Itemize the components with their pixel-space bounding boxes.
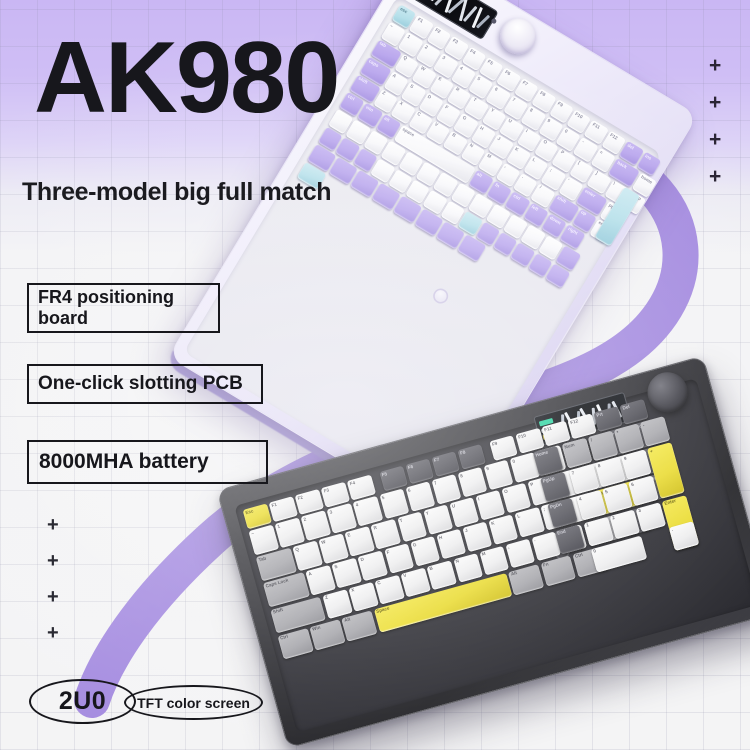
keycap-label: . xyxy=(531,537,536,544)
keycap-label: 5 xyxy=(379,494,385,501)
page-title: AK980 xyxy=(34,30,338,128)
feature-box-fr4-positioning-board: FR4 positioning board xyxy=(27,283,220,333)
keycap-label: M xyxy=(479,550,486,558)
plus-icon-left-1: + xyxy=(47,551,59,571)
keycap-label: 3 xyxy=(439,53,446,61)
keycap-label: B xyxy=(427,565,434,572)
keycap-label: 2 xyxy=(301,516,307,523)
keycap-label: ~ xyxy=(249,530,255,537)
keycap-label: F xyxy=(442,103,449,111)
keycap-label: O xyxy=(501,488,508,495)
keycap-label: 1 xyxy=(275,523,281,530)
keycap-label: F1 xyxy=(269,501,278,509)
keycap-label: W xyxy=(319,538,327,546)
keycap-label: 6 xyxy=(405,487,411,494)
keycap-label: 5 xyxy=(602,488,608,495)
keycap-label: Y xyxy=(423,510,430,517)
keycap-label: 0 xyxy=(591,548,597,555)
keycap-label: Esc xyxy=(243,507,254,516)
keycap-label: ; xyxy=(541,506,546,513)
keycap-label: F11 xyxy=(541,425,552,434)
keycap-label: F10 xyxy=(515,432,526,441)
keycap-label: Q xyxy=(293,546,300,553)
keycap-label: A xyxy=(306,570,313,577)
keycap-label: U xyxy=(449,503,456,510)
keycap-label: * xyxy=(614,429,619,436)
plus-icon-right-3: + xyxy=(709,166,721,187)
keycap-label: . xyxy=(669,526,674,533)
keycap-label: Fn xyxy=(540,561,549,569)
keycap-label: / xyxy=(588,436,593,443)
keycap-label: + xyxy=(647,448,653,455)
keycap-label: I xyxy=(475,496,480,503)
keycap-label: 9 xyxy=(484,465,490,472)
feature-box-one-click-slotting-pcb: One-click slotting PCB xyxy=(27,364,263,404)
keycap-label: S xyxy=(332,563,339,570)
keycap-label: F8 xyxy=(457,449,466,457)
keycap-label: F6 xyxy=(405,463,414,471)
page-subtitle: Three-model big full match xyxy=(22,178,331,207)
keycap-label: N xyxy=(453,558,460,565)
keycap-label: , xyxy=(505,544,510,551)
keycap-label: G xyxy=(410,541,417,548)
keycap-label: F2 xyxy=(295,494,304,502)
keycap-label: L xyxy=(530,155,537,163)
keycap-label: F9 xyxy=(489,440,498,448)
keycap-label: H xyxy=(477,124,485,132)
badge-tft-color-screen: TFT color screen xyxy=(124,685,263,720)
plus-icon-left-2: + xyxy=(47,587,59,607)
keycap-label: Alt xyxy=(508,570,517,578)
keycap-label: 6 xyxy=(628,481,634,488)
keycap-label: C xyxy=(375,579,382,586)
product-banner: escF1F2F3F4F5F6F7F8F9F10F11F12delins~123… xyxy=(0,0,750,750)
plus-icon-right-0: + xyxy=(709,55,721,76)
keycap-label: 1 xyxy=(405,32,412,40)
keycap-label: 0 xyxy=(562,127,569,135)
purple-keyboard-logo-dot xyxy=(430,286,451,307)
keycap-label: Z xyxy=(322,594,328,601)
keycap-label: - xyxy=(640,422,645,429)
keycap-label: F5 xyxy=(379,470,388,478)
keycap-label: 8 xyxy=(595,462,601,469)
keycap-label: J xyxy=(495,134,502,142)
keycap-label: F xyxy=(384,549,390,556)
keycap-label: 2 xyxy=(610,514,616,521)
keycap-label: L xyxy=(515,513,521,520)
keycap-label: 8 xyxy=(457,472,463,479)
keycap-label: 0 xyxy=(510,458,516,465)
plus-icon-right-2: + xyxy=(709,129,721,150)
keycap-label: 3 xyxy=(636,507,642,514)
keycap-label: F7 xyxy=(431,456,440,464)
keycap-label: 8 xyxy=(527,106,534,114)
keycap-label: P xyxy=(528,481,535,488)
keycap-label: V xyxy=(401,572,408,579)
keycap-label: F12 xyxy=(568,417,579,426)
keycap-label: 3 xyxy=(327,508,333,515)
keycap-label: J xyxy=(462,527,468,534)
keycap-label: 1 xyxy=(583,522,589,529)
keycap-label: Prt xyxy=(594,410,604,418)
keycap-label: R xyxy=(371,524,378,531)
keycap-label: E xyxy=(345,532,352,539)
keycap-label: ~ xyxy=(387,22,394,30)
keycap-label: Del xyxy=(620,403,630,411)
keycap-label: 9 xyxy=(621,455,627,462)
keycap-label: F3 xyxy=(321,486,330,494)
keycap-label: H xyxy=(436,534,443,541)
keycap-label: 7 xyxy=(569,469,575,476)
keycap-label: G xyxy=(460,113,468,121)
keycap-label: K xyxy=(488,520,495,527)
keycap-label: Alt xyxy=(342,616,351,624)
keycap-label: T xyxy=(397,517,403,524)
plus-icon-left-3: + xyxy=(47,623,59,643)
keycap-label: 4 xyxy=(576,496,582,503)
plus-icon-left-0: + xyxy=(47,515,59,535)
keycap-label: 6 xyxy=(492,85,499,93)
keycap-label: D xyxy=(358,556,365,563)
keycap-label: P xyxy=(558,148,566,156)
keycap-label: 7 xyxy=(431,480,437,487)
badge-2u0: 2U0 xyxy=(29,679,136,724)
keycap-label: 5 xyxy=(474,74,481,82)
keycap-label: X xyxy=(348,587,355,594)
keycap-label: S xyxy=(407,82,415,90)
keycap-label: T xyxy=(470,96,477,104)
plus-icon-right-1: + xyxy=(709,92,721,113)
keycap-label: Tab xyxy=(256,555,267,564)
keycap-label: F4 xyxy=(347,479,356,487)
feature-box-8000mha-battery: 8000MHA battery xyxy=(27,440,268,484)
keycap-label: 4 xyxy=(353,501,359,508)
